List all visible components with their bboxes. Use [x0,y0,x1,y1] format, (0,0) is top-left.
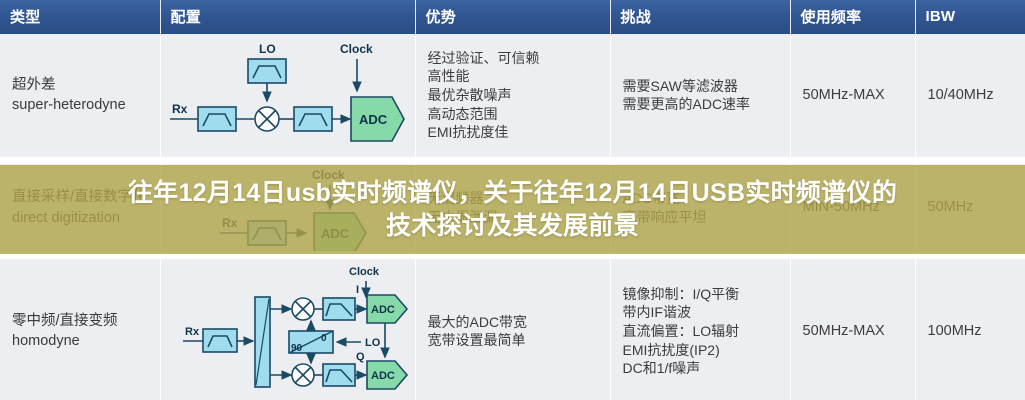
advantage-item: 高性能 [428,67,598,86]
column-header-advantage: 优势 [415,0,610,34]
column-header-type: 类型 [0,0,160,34]
diagram-label-clock: Clock [349,266,380,278]
challenge-item: DC和1/f噪声 [623,359,778,378]
diagram-label-rx: Rx [172,102,188,116]
challenge-item: EMI抗扰度(IP2) [623,341,778,360]
cell-type-homodyne: 零中频/直接变频 homodyne [0,255,160,400]
cell-frequency-direct-digitization: MIN-50MHz [790,160,915,255]
column-header-challenge: 挑战 [610,0,790,34]
challenge-item: 直流偏置：LO辐射 [623,322,778,341]
diagram-label-adc: ADC [321,226,350,241]
diagram-label-clock: Clock [340,42,373,56]
type-name-zh: 超外差 [12,75,148,95]
diagram-label-0: 0 [321,333,327,344]
challenge-item: 宽带响应平坦 [623,208,778,227]
challenge-item: 带内IF谐波 [623,303,778,322]
cell-config-homodyne: Clock Rx [160,255,415,400]
diagram-label-adc: ADC [371,370,395,382]
table-header: 类型 配置 优势 挑战 使用频率 IBW [0,0,1025,34]
table-row: 直接采样/直接数字化 direct digitization Clock [0,160,1025,255]
challenge-item: 需要更高的ADC速率 [623,95,778,114]
architecture-comparison-table: 类型 配置 优势 挑战 使用频率 IBW 超外差 super-heterodyn… [0,0,1025,400]
table-body: 超外差 super-heterodyne LO [0,34,1025,400]
diagram-label-adc: ADC [371,304,395,316]
cell-advantage-homodyne: 最大的ADC带宽 宽带设置最简单 [415,255,610,400]
type-name-zh: 零中频/直接变频 [12,311,148,331]
cell-advantage-direct-digitization: 无混频器 无本振泄漏 [415,160,610,255]
cell-config-direct-digitization: Clock Rx ADC [160,160,415,255]
cell-type-superheterodyne: 超外差 super-heterodyne [0,34,160,160]
table-row: 超外差 super-heterodyne LO [0,34,1025,160]
cell-config-superheterodyne: LO Clock Rx [160,34,415,160]
advantage-item: 经过验证、可信赖 [428,49,598,68]
diagram-label-adc: ADC [359,112,388,127]
homodyne-iq-block-diagram: Clock Rx [163,261,413,400]
column-header-config: 配置 [160,0,415,34]
cell-ibw-homodyne: 100MHz [915,255,1025,400]
diagram-label-rx: Rx [222,216,238,230]
diagram-label-q: Q [356,351,365,363]
table-row: 零中频/直接变频 homodyne Clock [0,255,1025,400]
advantage-item: 最大的ADC带宽 [428,313,598,332]
challenge-item: 需要SAW等滤波器 [623,77,778,96]
diagram-label-lo: LO [365,337,381,349]
cell-frequency-superheterodyne: 50MHz-MAX [790,34,915,160]
cell-type-direct-digitization: 直接采样/直接数字化 direct digitization [0,160,160,255]
cell-challenge-direct-digitization: ADC带宽 宽带响应平坦 [610,160,790,255]
diagram-label-i: I [356,284,359,296]
advantage-item: 宽带设置最简单 [428,331,598,350]
cell-challenge-homodyne: 镜像抑制：I/Q平衡 带内IF谐波 直流偏置：LO辐射 EMI抗扰度(IP2) … [610,255,790,400]
cell-ibw-superheterodyne: 10/40MHz [915,34,1025,160]
advantage-item: 最优杂散噪声 [428,86,598,105]
advantage-item: 无本振泄漏 [428,208,598,227]
cell-ibw-direct-digitization: 50MHz [915,160,1025,255]
screenshot-stage: 类型 配置 优势 挑战 使用频率 IBW 超外差 super-heterodyn… [0,0,1025,400]
type-name-en: super-heterodyne [12,95,148,115]
cell-challenge-superheterodyne: 需要SAW等滤波器 需要更高的ADC速率 [610,34,790,160]
type-name-en: homodyne [12,331,148,351]
column-header-frequency: 使用频率 [790,0,915,34]
cell-advantage-superheterodyne: 经过验证、可信赖 高性能 最优杂散噪声 高动态范围 EMI抗扰度佳 [415,34,610,160]
diagram-label-clock: Clock [312,168,345,182]
direct-digitization-block-diagram: Clock Rx ADC [164,165,412,251]
type-name-en: direct digitization [12,208,148,228]
advantage-item: EMI抗扰度佳 [428,123,598,142]
diagram-label-rx: Rx [185,326,200,338]
diagram-label-90: 90 [291,343,303,354]
advantage-item: 无混频器 [428,189,598,208]
cell-frequency-homodyne: 50MHz-MAX [790,255,915,400]
column-header-ibw: IBW [915,0,1025,34]
advantage-item: 高动态范围 [428,105,598,124]
challenge-item: ADC带宽 [623,189,778,208]
challenge-item: 镜像抑制：I/Q平衡 [623,285,778,304]
superheterodyne-block-diagram: LO Clock Rx [164,35,412,155]
diagram-label-lo: LO [259,42,276,56]
type-name-zh: 直接采样/直接数字化 [12,187,148,207]
header-row: 类型 配置 优势 挑战 使用频率 IBW [0,0,1025,34]
